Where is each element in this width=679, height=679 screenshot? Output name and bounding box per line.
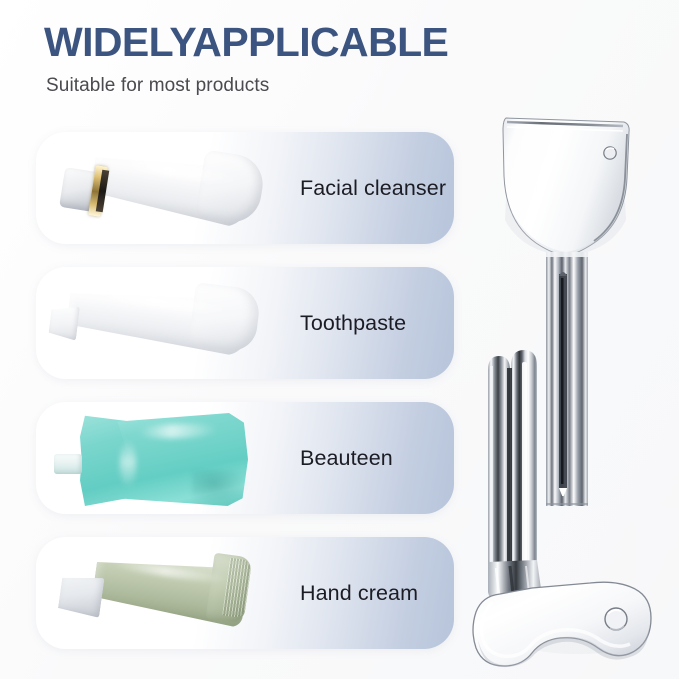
key-handle [473,582,651,667]
product-image-toothpaste [36,267,288,379]
card-label-facial-cleanser: Facial cleanser [300,176,446,201]
product-card-toothpaste: Toothpaste [36,267,454,379]
blade-hang-hole [604,147,616,159]
ribbed-shaft [546,252,588,506]
hand-cream-tube-icon [50,555,280,637]
toothpaste-tube-icon [42,285,282,365]
scraper-blade [503,118,629,256]
product-image-hand-cream [36,537,288,649]
pouch-highlight-fold [120,440,136,488]
tube-crimp [48,303,80,340]
product-image-facial-cleanser [36,132,288,244]
pouch-shadow [192,470,246,504]
tube-shoulder [188,282,261,354]
card-label-toothpaste: Toothpaste [300,311,406,336]
product-image-beauteen [36,402,288,514]
card-label-hand-cream: Hand cream [300,581,418,606]
product-card-facial-cleanser: Facial cleanser [36,132,454,244]
page-subtitle: Suitable for most products [46,75,584,97]
page-title: WIDELYAPPLICABLE [44,20,584,66]
product-card-list: Facial cleanser Toothpaste [36,132,454,672]
product-card-hand-cream: Hand cream [36,537,454,649]
beauteen-pouch-icon [52,410,267,510]
rolling-rod [488,350,537,570]
pouch-spout [54,454,82,474]
infographic-root: WIDELYAPPLICABLE Suitable for most produ… [0,0,679,679]
tube-shoulder [195,150,267,227]
metal-tube-squeezer-key-icon [470,100,679,670]
facial-cleanser-tube-icon [50,148,280,232]
card-label-beauteen: Beauteen [300,446,393,471]
product-card-beauteen: Beauteen [36,402,454,514]
tube-cap [57,572,104,617]
header: WIDELYAPPLICABLE Suitable for most produ… [44,20,584,97]
